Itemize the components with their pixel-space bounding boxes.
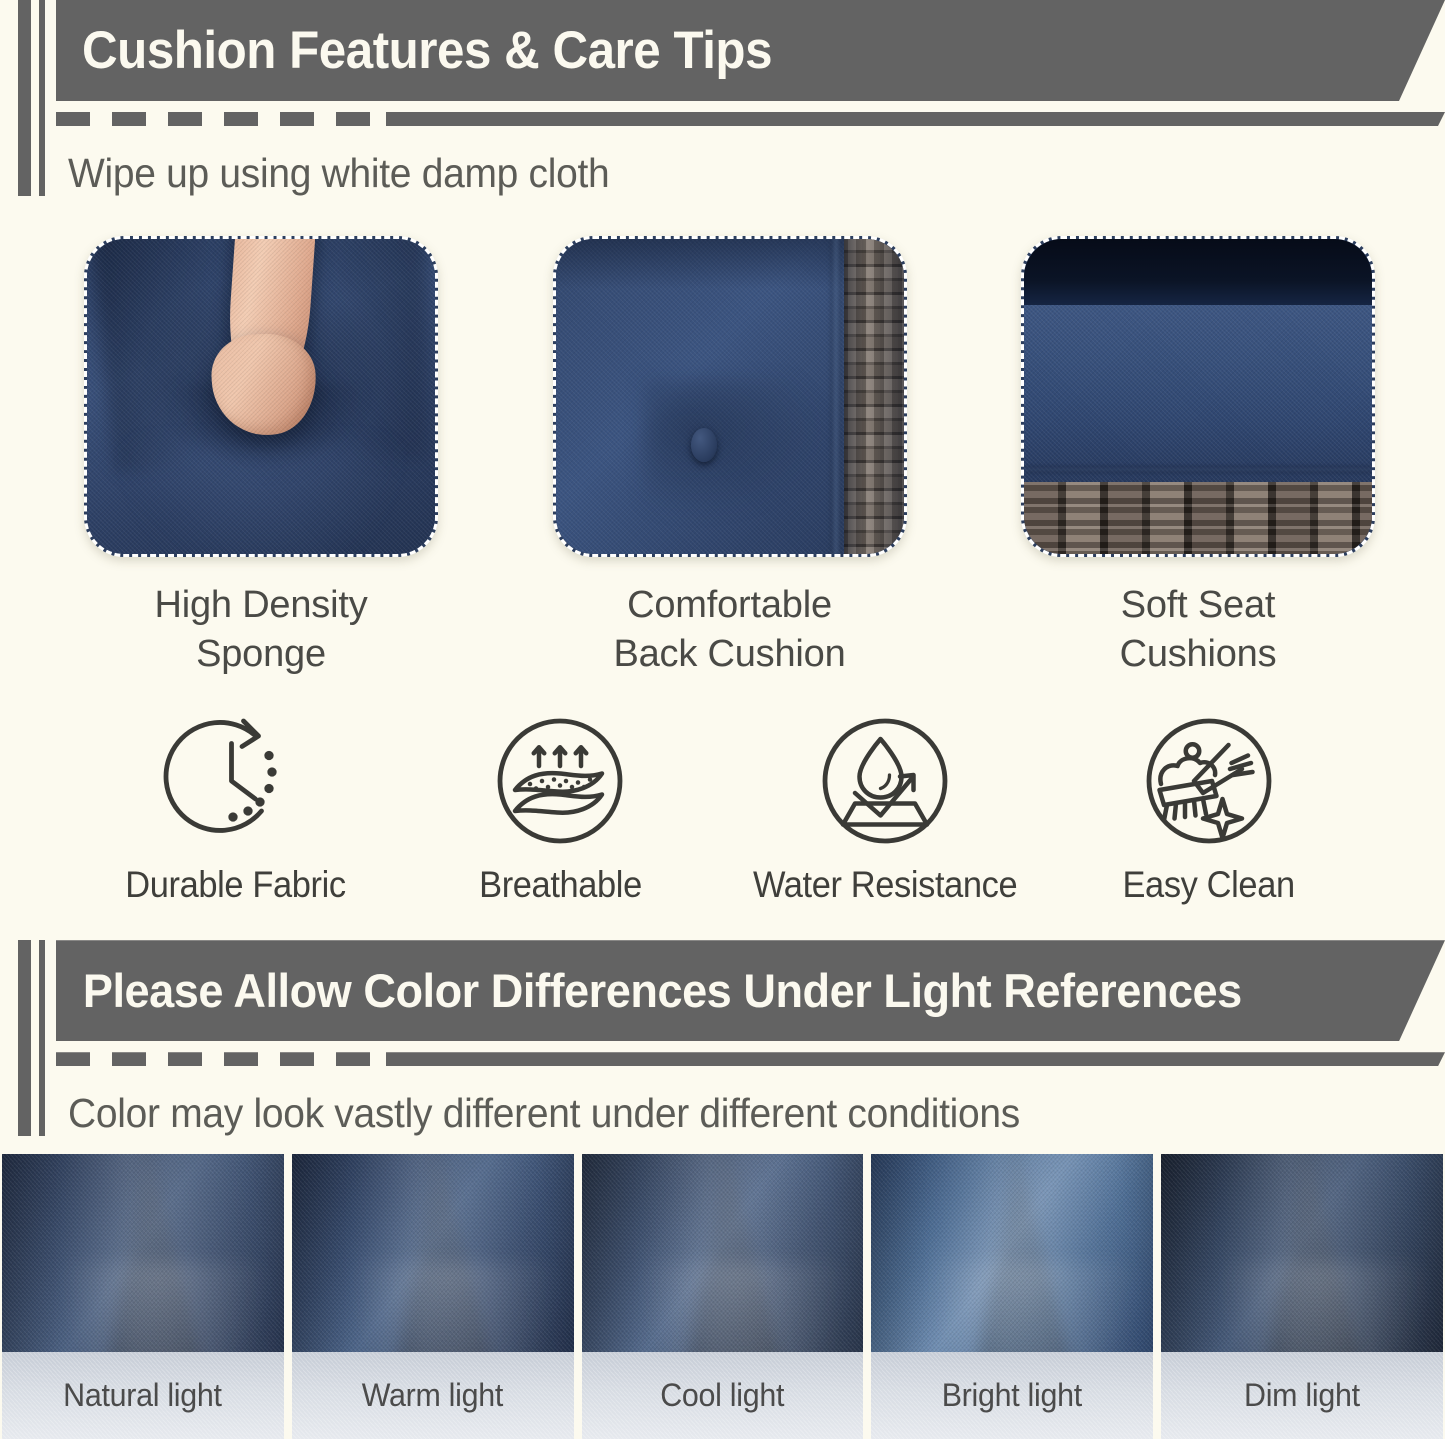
feature-water-resistance: Water Resistance	[735, 706, 1035, 906]
fabric-texture	[582, 1154, 864, 1352]
swatch-label-dim-light: Dim light	[1244, 1377, 1360, 1414]
card-label-line-2: Back Cushion	[613, 630, 845, 679]
swatch-caption-band: Bright light	[871, 1352, 1153, 1439]
feature-breathable: Breathable	[410, 706, 710, 906]
feature-icons-row: Durable Fabric	[0, 706, 1445, 906]
swatch-label-warm-light: Warm light	[362, 1377, 503, 1414]
fabric-texture	[871, 1154, 1153, 1352]
card-label-comfortable-back-cushion: Comfortable Back Cushion	[613, 581, 845, 678]
feature-label-breathable: Breathable	[479, 864, 642, 906]
card-label-high-density-sponge: High Density Sponge	[154, 581, 367, 678]
section-one-subtitle: Wipe up using white damp cloth	[68, 150, 1376, 197]
card-comfortable-back-cushion: Comfortable Back Cushion	[555, 236, 905, 678]
rail-thick-icon	[18, 940, 31, 1136]
seat-cushion-photo	[1021, 236, 1375, 557]
card-soft-seat-cushions: Soft Seat Cushions	[1023, 236, 1373, 678]
section-two-dashed-rule	[56, 1052, 1445, 1066]
fabric-texture	[2, 1154, 284, 1352]
rail-thin-icon	[39, 940, 45, 1136]
section-one-title: Cushion Features & Care Tips	[56, 24, 772, 77]
swatch-cool-light: Cool light	[582, 1154, 864, 1439]
color-swatch-row: Natural light Warm light Cool light	[0, 1154, 1445, 1439]
header-rails-two	[18, 940, 46, 1136]
rail-thick-icon	[18, 0, 31, 196]
feature-label-easy-clean: Easy Clean	[1123, 864, 1295, 906]
swatch-dim-light: Dim light	[1161, 1154, 1443, 1439]
hand-pressing-cushion-photo	[84, 236, 438, 557]
back-cushion-photo	[553, 236, 907, 557]
card-high-density-sponge: High Density Sponge	[86, 236, 436, 678]
card-label-line-1: Comfortable	[613, 581, 845, 630]
water-droplet-repel-icon	[810, 706, 960, 856]
card-label-soft-seat-cushions: Soft Seat Cushions	[1120, 581, 1277, 678]
solid-segment-icon	[386, 1052, 1445, 1066]
section-two-title: Please Allow Color Differences Under Lig…	[56, 967, 1242, 1014]
feature-cards-row: High Density Sponge Comfortable	[0, 236, 1445, 678]
breathable-fabric-arrows-icon	[485, 706, 635, 856]
section-two-header: Please Allow Color Differences Under Lig…	[0, 940, 1445, 1136]
dash-segment-icon	[56, 1052, 386, 1066]
wicker-base-texture	[1024, 482, 1372, 554]
section-one-dashed-rule	[56, 112, 1445, 126]
card-label-line-2: Sponge	[154, 630, 367, 679]
infographic-page: Cushion Features & Care Tips Wipe up usi…	[0, 0, 1445, 1439]
swatch-warm-light: Warm light	[292, 1154, 574, 1439]
card-label-line-1: High Density	[154, 581, 367, 630]
swatch-bright-light: Bright light	[871, 1154, 1153, 1439]
swatch-label-natural-light: Natural light	[64, 1377, 223, 1414]
feature-label-durable-fabric: Durable Fabric	[126, 864, 346, 906]
header-rails-one	[18, 0, 46, 196]
dash-segment-icon	[56, 112, 386, 126]
section-one-header: Cushion Features & Care Tips Wipe up usi…	[0, 0, 1445, 196]
solid-segment-icon	[386, 112, 1445, 126]
clock-arrow-dots-icon	[161, 706, 311, 856]
feature-label-water-resistance: Water Resistance	[752, 864, 1016, 906]
swatch-label-bright-light: Bright light	[942, 1377, 1082, 1414]
swatch-caption-band: Dim light	[1161, 1352, 1443, 1439]
card-label-line-2: Cushions	[1120, 630, 1277, 679]
swatch-label-cool-light: Cool light	[661, 1377, 785, 1414]
swatch-caption-band: Cool light	[582, 1352, 864, 1439]
brush-hand-sparkle-icon	[1134, 706, 1284, 856]
swatch-caption-band: Warm light	[292, 1352, 574, 1439]
fabric-texture	[292, 1154, 574, 1352]
card-label-line-1: Soft Seat	[1120, 581, 1277, 630]
section-two-banner: Please Allow Color Differences Under Lig…	[56, 940, 1445, 1041]
section-two-subtitle: Color may look vastly different under di…	[68, 1090, 1376, 1137]
swatch-natural-light: Natural light	[2, 1154, 284, 1439]
fabric-texture	[1161, 1154, 1443, 1352]
rail-thin-icon	[39, 0, 45, 196]
feature-durable-fabric: Durable Fabric	[86, 706, 386, 906]
swatch-caption-band: Natural light	[2, 1352, 284, 1439]
feature-easy-clean: Easy Clean	[1059, 706, 1359, 906]
section-one-banner: Cushion Features & Care Tips	[56, 0, 1445, 101]
